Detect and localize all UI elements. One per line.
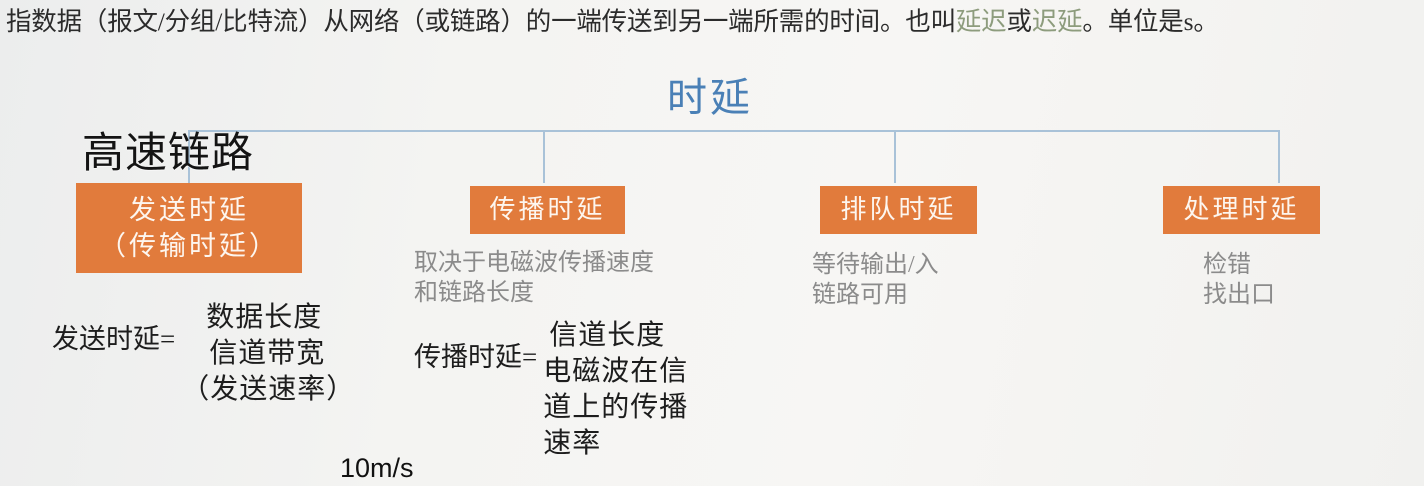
- formula-send-delay-denominator-line1: 信道带宽: [181, 336, 353, 372]
- formula-propagation-delay-denominator-line2: 道上的传播: [543, 390, 721, 426]
- formula-propagation-delay-lhs: 传播时延=: [414, 318, 537, 374]
- description-processing-line1: 检错: [1203, 250, 1275, 280]
- slide-canvas: 指数据（报文/分组/比特流）从网络（或链路）的一端传送到另一端所需的时间。也叫延…: [0, 0, 1424, 486]
- formula-send-delay: 发送时延= 数据长度 信道带宽 （发送速率）: [52, 300, 353, 444]
- lead-text-highlight-yanchi: 延迟: [956, 7, 1007, 36]
- box-queuing-delay-label: 排队时延: [820, 186, 977, 234]
- formula-send-delay-fraction: 数据长度 信道带宽 （发送速率）: [181, 300, 353, 444]
- box-processing-delay: 处理时延: [1163, 186, 1320, 234]
- box-propagation-delay: 传播时延: [470, 186, 625, 234]
- box-propagation-delay-label: 传播时延: [470, 186, 625, 234]
- lead-description-text: 指数据（报文/分组/比特流）从网络（或链路）的一端传送到另一端所需的时间。也叫延…: [6, 2, 1422, 42]
- formula-send-delay-denominator-line2: （发送速率）: [181, 372, 353, 408]
- description-queuing-delay: 等待输出/入 链路可用: [812, 250, 939, 310]
- annotation-speed-value: 10m/s: [340, 452, 414, 484]
- connector-drop-processing-delay: [1278, 130, 1280, 183]
- formula-propagation-delay-numerator: 信道长度: [543, 320, 671, 353]
- formula-propagation-delay-fraction: 信道长度 电磁波在信 道上的传播 速率: [543, 318, 721, 486]
- description-processing-delay: 检错 找出口: [1203, 250, 1275, 310]
- lead-text-segment-3: 。单位是s。: [1082, 7, 1218, 36]
- box-send-delay: 发送时延 （传输时延）: [76, 183, 302, 273]
- box-processing-delay-label: 处理时延: [1163, 186, 1320, 234]
- description-propagation-delay: 取决于电磁波传播速度 和链路长度: [414, 248, 654, 308]
- description-processing-line2: 找出口: [1203, 280, 1275, 310]
- box-send-delay-line1: 发送时延: [76, 192, 302, 228]
- formula-propagation-delay-denominator-line1: 电磁波在信: [543, 354, 721, 390]
- formula-send-delay-lhs: 发送时延=: [52, 300, 175, 356]
- lead-text-segment-2: 或: [1006, 7, 1031, 36]
- box-queuing-delay: 排队时延: [820, 186, 977, 234]
- box-send-delay-line2: （传输时延）: [76, 228, 302, 264]
- connector-drop-queuing-delay: [894, 130, 896, 183]
- description-queuing-line1: 等待输出/入: [812, 250, 939, 280]
- connector-horizontal-bar: [188, 130, 1280, 132]
- description-propagation-line2: 和链路长度: [414, 278, 654, 308]
- formula-propagation-delay: 传播时延= 信道长度 电磁波在信 道上的传播 速率: [414, 318, 721, 486]
- connector-drop-propagation-delay: [543, 130, 545, 183]
- description-queuing-line2: 链路可用: [812, 280, 939, 310]
- handwritten-annotation-high-speed-link: 高速链路: [82, 128, 254, 180]
- lead-text-highlight-chiyan: 迟延: [1032, 7, 1083, 36]
- formula-propagation-delay-denominator-line3: 速率: [543, 426, 721, 462]
- description-propagation-line1: 取决于电磁波传播速度: [414, 248, 654, 278]
- lead-text-segment-1: 指数据（报文/分组/比特流）从网络（或链路）的一端传送到另一端所需的时间。也叫: [6, 7, 956, 36]
- diagram-title: 时延: [640, 74, 780, 122]
- formula-send-delay-numerator: 数据长度: [200, 302, 328, 335]
